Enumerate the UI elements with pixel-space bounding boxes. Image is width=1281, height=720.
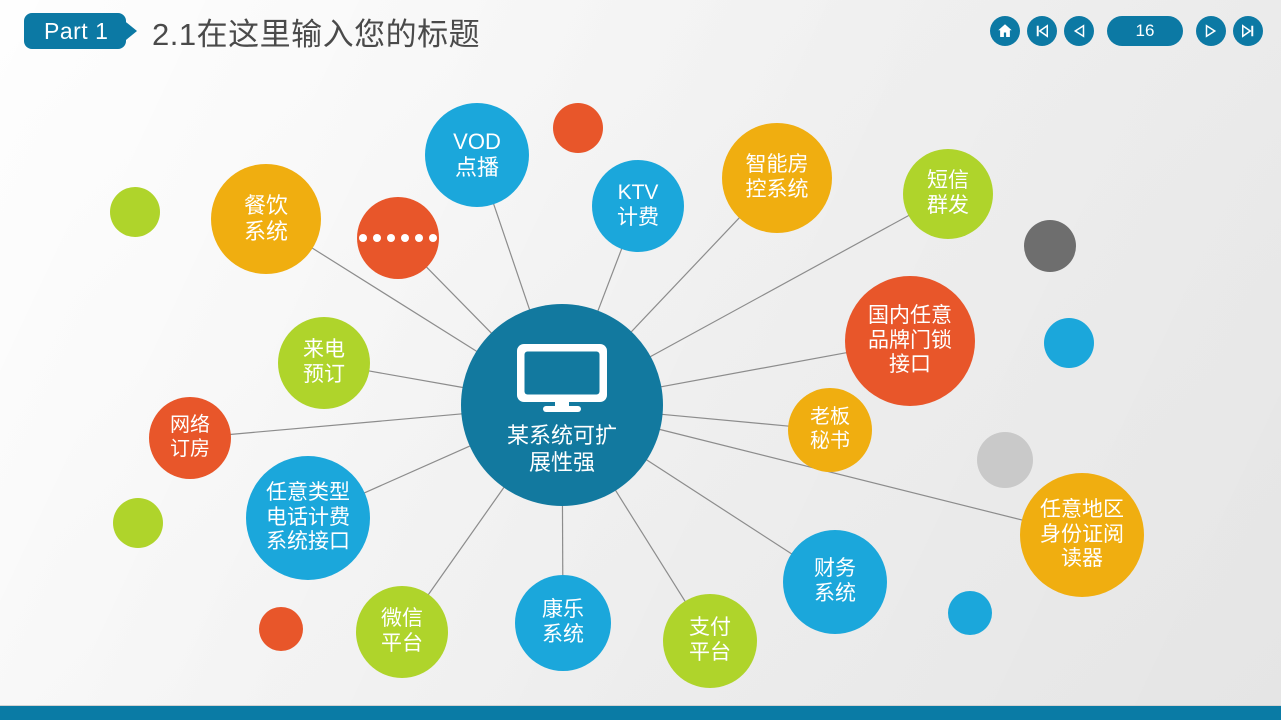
connector-line	[598, 248, 622, 312]
previous-slide-button[interactable]	[1064, 16, 1094, 46]
connector-line	[230, 414, 463, 435]
diagram-node-label: 来电 预订	[303, 338, 345, 388]
deco-orange-top	[553, 103, 603, 153]
diagram-node[interactable]	[357, 197, 439, 279]
skip-first-icon	[1033, 22, 1051, 40]
diagram-center-label: 某系统可扩 展性强	[507, 423, 617, 477]
page-number-badge[interactable]: 16	[1107, 16, 1183, 46]
page-number-label: 16	[1136, 21, 1155, 41]
home-button[interactable]	[990, 16, 1020, 46]
monitor-icon	[514, 342, 610, 419]
diagram-node-label: 康乐 系统	[542, 598, 584, 648]
diagram-node[interactable]: 任意地区 身份证阅 读器	[1020, 473, 1144, 597]
diagram-node-label: 国内任意 品牌门锁 接口	[868, 304, 952, 378]
page-title: 2.1在这里输入您的标题	[152, 9, 480, 54]
deco-gray-dark-right	[1024, 220, 1076, 272]
diagram-node-label: 网络 订房	[170, 414, 210, 461]
connector-line	[660, 353, 847, 387]
diagram-node-label: KTV 计费	[617, 181, 659, 231]
diagram-center-node[interactable]: 某系统可扩 展性强	[461, 304, 663, 506]
footer-bar	[0, 706, 1281, 720]
skip-last-icon	[1239, 22, 1257, 40]
connector-line	[364, 446, 471, 494]
deco-gray-light-right	[977, 432, 1033, 488]
diagram-node[interactable]: 短信 群发	[903, 149, 993, 239]
diagram-node[interactable]: VOD 点播	[425, 103, 529, 207]
connector-line	[426, 267, 492, 334]
diagram-node[interactable]: 微信 平台	[356, 586, 448, 678]
diagram-node-label: 老板 秘书	[810, 406, 850, 453]
home-icon	[996, 22, 1014, 40]
diagram-node-label: 任意类型 电话计费 系统接口	[266, 481, 350, 555]
diagram-node-label: 支付 平台	[689, 616, 731, 666]
diagram-node[interactable]: KTV 计费	[592, 160, 684, 252]
connector-line	[662, 414, 790, 426]
deco-orange-bottom	[259, 607, 303, 651]
connector-line	[615, 490, 685, 602]
deco-green-left-bottom	[113, 498, 163, 548]
diagram-node[interactable]: 智能房 控系统	[722, 123, 832, 233]
diagram-node-label: 短信 群发	[927, 169, 969, 219]
diagram-node-label: VOD 点播	[453, 129, 501, 181]
diagram-node[interactable]: 国内任意 品牌门锁 接口	[845, 276, 975, 406]
diagram-node[interactable]: 来电 预订	[278, 317, 370, 409]
connector-line	[428, 487, 504, 595]
part-badge-label: Part 1	[44, 18, 108, 45]
connector-line	[493, 203, 529, 310]
diagram-node[interactable]: 任意类型 电话计费 系统接口	[246, 456, 370, 580]
diagram-node-label: 餐饮 系统	[244, 193, 288, 245]
slide-canvas: Part 1 2.1在这里输入您的标题 16	[0, 0, 1281, 720]
diagram-node[interactable]: 网络 订房	[149, 397, 231, 479]
diagram-node-label: 微信 平台	[381, 607, 423, 657]
prev-icon	[1070, 22, 1088, 40]
diagram-node-label: 财务 系统	[814, 557, 856, 607]
deco-blue-bottom	[948, 591, 992, 635]
diagram-node[interactable]: 支付 平台	[663, 594, 757, 688]
part-badge-arrow	[121, 18, 137, 44]
diagram-node[interactable]: 餐饮 系统	[211, 164, 321, 274]
part-badge: Part 1	[24, 13, 126, 49]
deco-blue-right	[1044, 318, 1094, 368]
diagram-node[interactable]: 财务 系统	[783, 530, 887, 634]
diagram-node-label: 任意地区 身份证阅 读器	[1040, 498, 1124, 572]
slide-header: Part 1 2.1在这里输入您的标题 16	[0, 0, 1281, 70]
ellipsis-dots-icon	[359, 234, 437, 242]
diagram-node[interactable]: 康乐 系统	[515, 575, 611, 671]
connector-line	[368, 371, 463, 388]
deco-green-left-top	[110, 187, 160, 237]
diagram-node-label: 智能房 控系统	[746, 153, 809, 203]
connector-line	[646, 459, 792, 554]
first-slide-button[interactable]	[1027, 16, 1057, 46]
last-slide-button[interactable]	[1233, 16, 1263, 46]
diagram-node[interactable]: 老板 秘书	[788, 388, 872, 472]
next-icon	[1202, 22, 1220, 40]
next-slide-button[interactable]	[1196, 16, 1226, 46]
slide-navigation: 16	[990, 16, 1263, 46]
